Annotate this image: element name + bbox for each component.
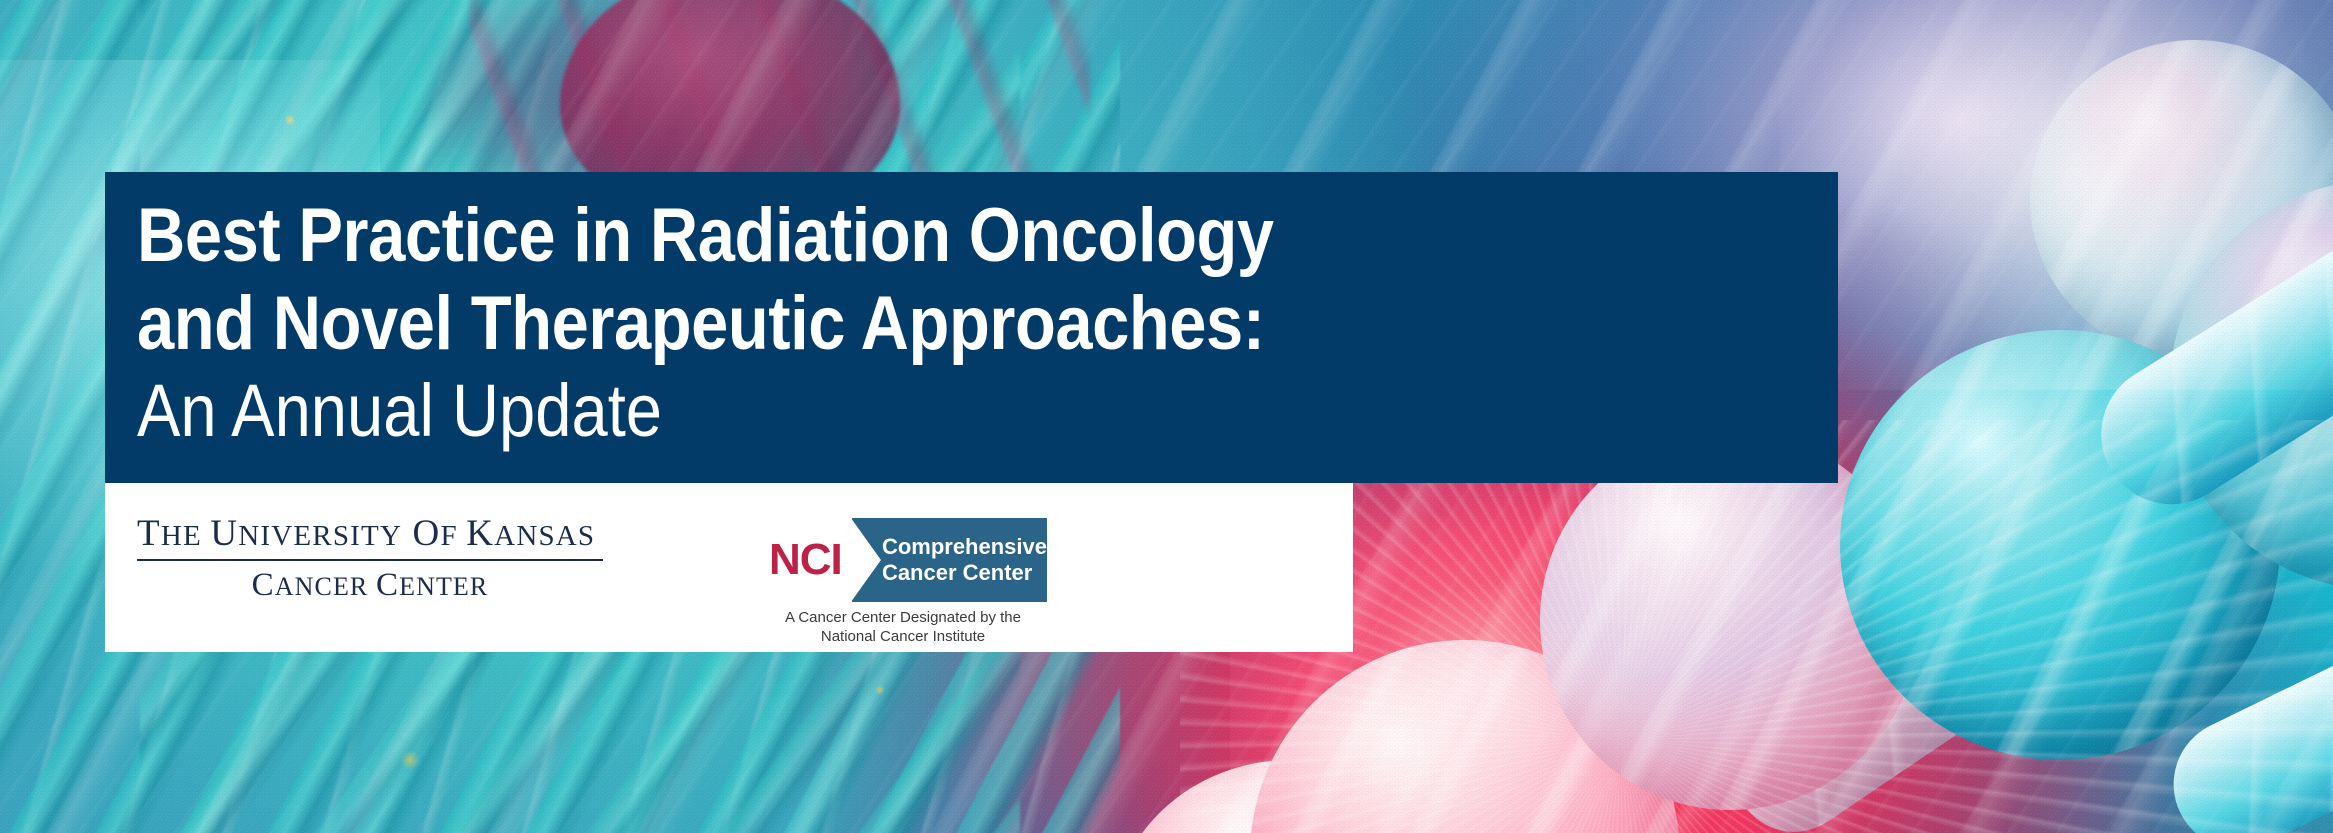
nci-wordmark: NCI (769, 538, 842, 582)
logo-bar: THE UNIVERSITY OF KANSAS CANCER CENTER N… (105, 483, 1353, 652)
title-line-2: and Novel Therapeutic Approaches: (137, 286, 1634, 362)
conference-banner: Best Practice in Radiation Oncology and … (0, 0, 2333, 833)
ku-logo-kansas-rest: ANSAS (494, 520, 595, 552)
nci-designation-line-2: National Cancer Institute (759, 628, 1047, 647)
nci-badge-text: Comprehensive Cancer Center (882, 534, 1047, 586)
ku-logo-line-1: THE UNIVERSITY OF KANSAS (137, 515, 745, 559)
ku-logo-divider-rule (137, 559, 603, 561)
ku-logo-of-rest: F (440, 520, 466, 552)
title-line-3: An Annual Update (137, 374, 1634, 448)
nci-comprehensive-cancer-center-logo: NCI Comprehensive Cancer Center A Cancer… (745, 483, 1047, 647)
ku-logo-the-t: T (137, 513, 161, 554)
ku-logo-center-c: C (376, 567, 399, 603)
ku-logo-cancer-c: C (252, 567, 275, 603)
ku-logo-university-u: U (210, 513, 238, 554)
ku-logo-center-rest: ENTER (399, 572, 488, 601)
ku-logo-line-2: CANCER CENTER (137, 569, 603, 602)
ku-logo-university-rest: NIVERSITY (238, 520, 402, 552)
nci-badge-chevron: NCI (759, 518, 852, 602)
ku-logo-of-o: O (402, 513, 440, 554)
ku-logo-cancer-rest: ANCER (275, 572, 376, 601)
title-banner: Best Practice in Radiation Oncology and … (105, 172, 1838, 483)
ku-cancer-center-logo: THE UNIVERSITY OF KANSAS CANCER CENTER (105, 483, 745, 602)
ku-logo-kansas-k: K (466, 513, 494, 554)
nci-designation-line-1: A Cancer Center Designated by the (759, 609, 1047, 628)
title-line-1: Best Practice in Radiation Oncology (137, 198, 1634, 274)
nci-badge: NCI Comprehensive Cancer Center (759, 518, 1047, 602)
nci-title-line-2: Cancer Center (882, 560, 1047, 586)
nci-title-line-1: Comprehensive (882, 534, 1047, 560)
nci-designation-text: A Cancer Center Designated by the Nation… (759, 609, 1047, 647)
ku-logo-the-rest: HE (161, 520, 211, 552)
